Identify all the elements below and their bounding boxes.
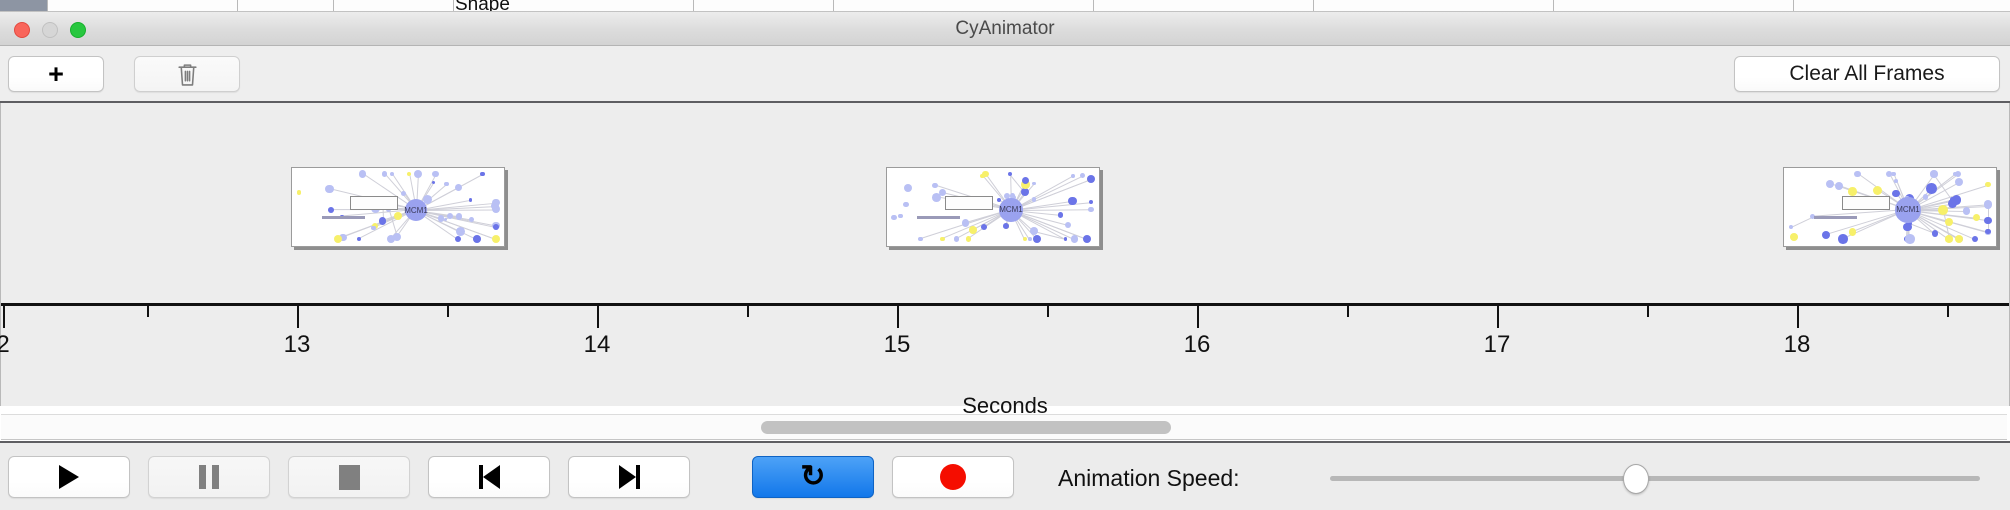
network-node (297, 190, 302, 195)
network-node (432, 171, 439, 178)
network-node (903, 202, 909, 208)
stop-icon (339, 465, 360, 490)
network-node (493, 224, 499, 230)
network-hub-node: MCM1 (1895, 197, 1920, 222)
network-node (455, 184, 462, 191)
frame-strip[interactable]: MCM1MCM1MCM1 (1, 103, 2009, 303)
title-bar: CyAnimator (0, 12, 2010, 46)
record-button[interactable] (892, 456, 1014, 498)
network-node (414, 170, 422, 178)
first-frame-button[interactable] (428, 456, 550, 498)
cyanimator-window: Shape CyAnimator + Clear All Frames MCM1… (0, 0, 2010, 510)
network-node (1028, 237, 1032, 241)
network-node (473, 235, 481, 243)
window-title: CyAnimator (0, 12, 2010, 46)
network-node (898, 214, 903, 219)
ruler-tick-minor (447, 306, 449, 317)
ruler-tick-major (1797, 306, 1799, 328)
timeline-panel[interactable]: MCM1MCM1MCM1 2131415161718 Seconds (0, 103, 2010, 406)
ruler-tick-major (1197, 306, 1199, 328)
slider-track (1330, 476, 1980, 481)
network-node (387, 235, 396, 244)
skip-back-icon (479, 465, 500, 489)
ruler-tick-minor (1047, 306, 1049, 317)
animation-speed-label: Animation Speed: (1058, 465, 1240, 492)
network-annotation-text (322, 216, 394, 219)
network-node (1023, 237, 1027, 241)
network-node (1930, 170, 1937, 177)
pause-icon (199, 465, 219, 489)
network-node (1003, 223, 1009, 229)
network-callout (1842, 196, 1890, 210)
network-node (469, 198, 472, 201)
ruler-tick-minor (747, 306, 749, 317)
delete-frame-button[interactable] (134, 56, 240, 92)
loop-icon: ↻ (800, 462, 825, 492)
animation-speed-slider[interactable] (1330, 467, 1980, 489)
network-annotation-text (1814, 216, 1886, 219)
network-node (1068, 197, 1076, 205)
network-node (480, 172, 484, 176)
network-node (940, 237, 944, 241)
network-node (1033, 235, 1041, 243)
network-node (1080, 173, 1085, 178)
network-node (1071, 174, 1075, 178)
timeline-frame[interactable]: MCM1 (291, 167, 505, 247)
ruler-tick-minor (1947, 306, 1949, 317)
stop-button[interactable] (288, 456, 410, 498)
network-node (1945, 235, 1952, 242)
network-node (1891, 172, 1896, 177)
network-node (981, 224, 987, 230)
plus-icon: + (48, 61, 64, 88)
network-thumbnail: MCM1 (294, 170, 502, 244)
network-node (1945, 218, 1953, 226)
ruler-tick-label: 17 (1484, 331, 1511, 359)
network-node (1932, 230, 1938, 236)
network-node (1972, 236, 1978, 242)
network-node (456, 213, 462, 219)
play-button[interactable] (8, 456, 130, 498)
network-node (954, 236, 959, 241)
network-node (1088, 207, 1093, 212)
ruler-tick-label: 13 (284, 331, 311, 359)
network-node (1984, 200, 1992, 208)
ruler-tick-label: 15 (884, 331, 911, 359)
network-node (1087, 175, 1096, 184)
network-thumbnail: MCM1 (1786, 170, 1994, 244)
network-node (1021, 188, 1029, 196)
clear-all-frames-label: Clear All Frames (1789, 62, 1944, 86)
network-node (456, 227, 465, 236)
network-node (1984, 217, 1991, 224)
scrollbar-thumb[interactable] (761, 421, 1171, 434)
network-node (1955, 178, 1963, 186)
network-node (359, 170, 366, 177)
ruler-tick-major (597, 306, 599, 328)
network-node (1826, 180, 1834, 188)
network-callout (350, 196, 398, 210)
network-node (1873, 186, 1882, 195)
background-shape-label: Shape (455, 0, 510, 12)
trash-icon (177, 62, 198, 87)
network-node (1030, 227, 1038, 235)
ruler-tick-major (1497, 306, 1499, 328)
network-node (1789, 225, 1793, 229)
network-node (966, 236, 971, 241)
network-annotation-text (917, 216, 989, 219)
network-node (394, 212, 402, 220)
network-hub-node: MCM1 (999, 198, 1023, 222)
ruler-tick-label: 18 (1784, 331, 1811, 359)
network-node (1854, 171, 1860, 177)
last-frame-button[interactable] (568, 456, 690, 498)
network-node (1963, 207, 1970, 214)
network-node (932, 193, 941, 202)
network-node (1071, 235, 1078, 242)
ruler-tick-major (3, 306, 5, 328)
network-node (1058, 212, 1064, 218)
network-node (1065, 222, 1071, 228)
ruler-tick-major (297, 306, 299, 328)
network-node (980, 174, 984, 178)
network-node (1032, 197, 1037, 202)
network-node (325, 185, 334, 194)
network-node (1973, 214, 1980, 221)
network-node (891, 215, 896, 220)
network-node (1926, 183, 1937, 194)
record-icon (940, 464, 966, 490)
network-node (1064, 237, 1068, 241)
ruler-tick-major (897, 306, 899, 328)
timeline-ruler[interactable]: 2131415161718 Seconds (1, 303, 2009, 406)
network-node (328, 207, 334, 213)
network-node (1955, 171, 1961, 177)
loop-button[interactable]: ↻ (752, 456, 874, 498)
network-node (444, 182, 449, 187)
network-node (932, 183, 938, 189)
network-node (1089, 200, 1093, 204)
toolbar: + Clear All Frames (0, 46, 2010, 102)
network-node (382, 171, 387, 176)
network-edge (1791, 217, 1813, 228)
ruler-tick-label: 2 (0, 331, 10, 359)
timeline-frame[interactable]: MCM1 (886, 167, 1100, 247)
add-frame-button[interactable]: + (8, 56, 104, 92)
network-node (1955, 235, 1963, 243)
network-node (492, 235, 501, 244)
timeline-scrollbar[interactable] (1, 414, 2007, 440)
network-node (1905, 234, 1914, 243)
network-node (1848, 187, 1857, 196)
ruler-tick-label: 16 (1184, 331, 1211, 359)
ruler-tick-minor (1647, 306, 1649, 317)
network-thumbnail: MCM1 (889, 170, 1097, 244)
network-node (1923, 194, 1929, 200)
pause-button[interactable] (148, 456, 270, 498)
ruler-baseline (1, 303, 2009, 306)
network-node (1985, 182, 1990, 187)
network-node (438, 215, 445, 222)
network-node (1032, 182, 1035, 185)
network-node (334, 235, 342, 243)
playback-bar: ↻ Animation Speed: (0, 441, 2010, 510)
network-node (1938, 205, 1948, 215)
network-node (1903, 223, 1911, 231)
network-node (1849, 228, 1856, 235)
network-node (1822, 231, 1830, 239)
slider-knob[interactable] (1623, 464, 1649, 494)
network-hub-node: MCM1 (405, 199, 427, 221)
network-node (904, 184, 912, 192)
network-node (1838, 234, 1847, 243)
clear-all-frames-button[interactable]: Clear All Frames (1734, 56, 2000, 92)
network-node (432, 181, 436, 185)
network-node (918, 237, 923, 242)
network-callout (945, 196, 993, 210)
ruler-tick-minor (1347, 306, 1349, 317)
ruler-tick-minor (147, 306, 149, 317)
network-node (1790, 233, 1798, 241)
timeline-frame[interactable]: MCM1 (1783, 167, 1997, 247)
network-node (455, 236, 462, 243)
ruler-tick-label: 14 (584, 331, 611, 359)
skip-forward-icon (619, 465, 640, 489)
network-node (357, 237, 361, 241)
network-node (1985, 229, 1990, 234)
network-node (1835, 182, 1843, 190)
background-window: Shape (0, 0, 2010, 12)
play-icon (59, 465, 79, 489)
